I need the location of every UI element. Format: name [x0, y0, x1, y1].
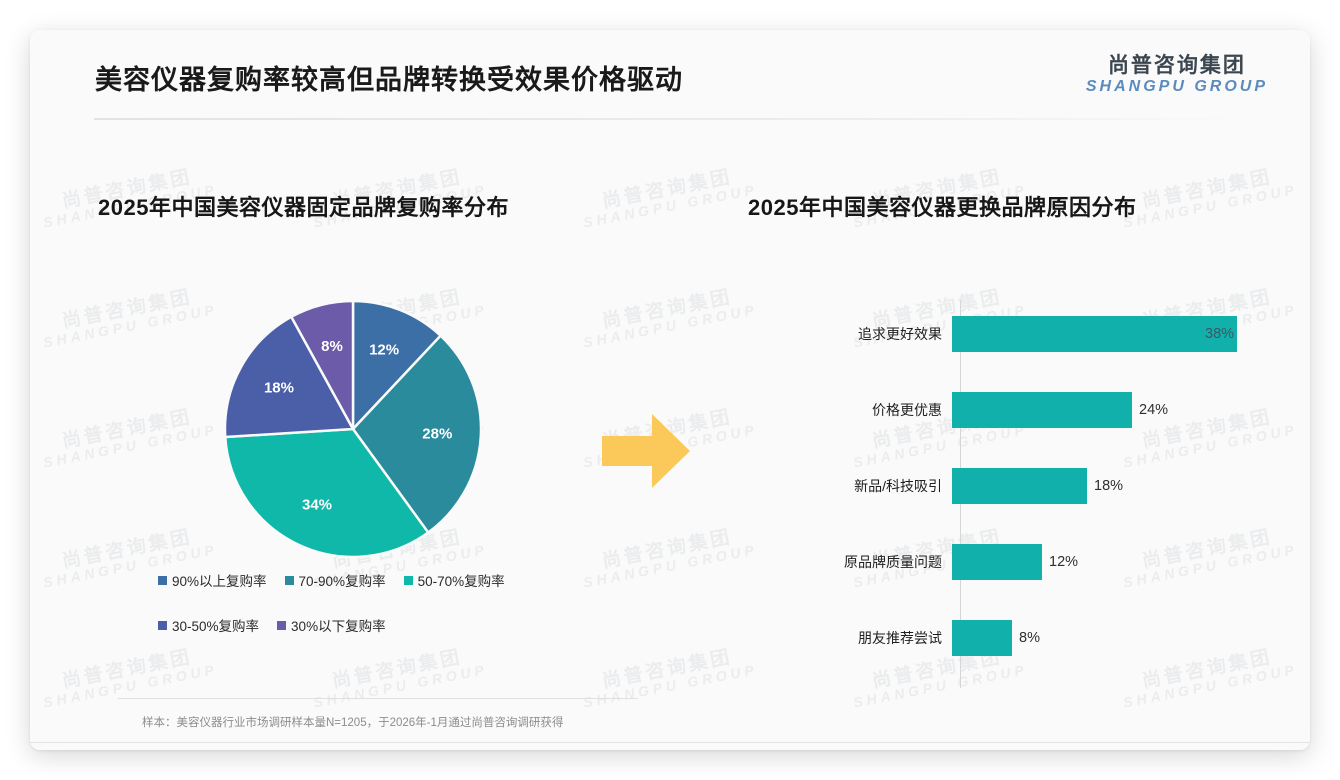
- legend-row: 90%以上复购率70-90%复购率50-70%复购率: [158, 570, 588, 590]
- pie-slice-label: 12%: [369, 341, 399, 358]
- header-divider: [94, 118, 1246, 120]
- bar-value-label: 24%: [1139, 402, 1168, 418]
- legend-item[interactable]: 90%以上复购率: [158, 570, 267, 590]
- legend-label: 50-70%复购率: [418, 570, 505, 590]
- pie-slice-label: 18%: [264, 379, 294, 396]
- watermark: 尚普咨询集团SHANGPU GROUP: [38, 283, 218, 349]
- logo-chinese-text: 尚普咨询集团: [1086, 54, 1268, 78]
- slide-footer: ©2026.1 SHANGPU GROUP www.shangpu-china.…: [30, 743, 1310, 750]
- page-title: 美容仪器复购率较高但品牌转换受效果价格驱动: [95, 58, 683, 97]
- legend-swatch-icon: [285, 576, 294, 585]
- bar-category-label: 追求更好效果: [748, 324, 952, 344]
- bar-row: 追求更好效果38%: [748, 313, 1278, 355]
- watermark: 尚普咨询集团SHANGPU GROUP: [578, 643, 758, 709]
- legend-label: 70-90%复购率: [299, 570, 386, 590]
- bar-chart: 追求更好效果38%价格更优惠24%新品/科技吸引18%原品牌质量问题12%朋友推…: [748, 288, 1278, 688]
- legend-swatch-icon: [158, 576, 167, 585]
- company-logo: 尚普咨询集团 SHANGPU GROUP: [1086, 54, 1268, 95]
- bar-category-label: 价格更优惠: [748, 400, 952, 420]
- bar-row: 新品/科技吸引18%: [748, 465, 1278, 507]
- watermark: 尚普咨询集团SHANGPU GROUP: [1118, 163, 1298, 229]
- pie-slice-label: 34%: [302, 496, 332, 513]
- source-note: 样本：美容仪器行业市场调研样本量N=1205，于2026年-1月通过尚普咨询调研…: [142, 714, 563, 730]
- watermark: 尚普咨询集团SHANGPU GROUP: [578, 523, 758, 589]
- pie-legend: 90%以上复购率70-90%复购率50-70%复购率30-50%复购率30%以下…: [158, 570, 588, 660]
- legend-row: 30-50%复购率30%以下复购率: [158, 615, 588, 635]
- legend-swatch-icon: [277, 621, 286, 630]
- bar-fill[interactable]: [952, 392, 1132, 428]
- bar-fill[interactable]: [952, 316, 1237, 352]
- pie-chart-svg: 12%28%34%18%8%: [222, 298, 484, 560]
- bar-value-label: 8%: [1019, 630, 1040, 646]
- slide-header: 美容仪器复购率较高但品牌转换受效果价格驱动 尚普咨询集团 SHANGPU GRO…: [30, 30, 1310, 120]
- pie-chart: 12%28%34%18%8%: [222, 298, 484, 560]
- legend-swatch-icon: [158, 621, 167, 630]
- legend-label: 30-50%复购率: [172, 615, 259, 635]
- pie-chart-title: 2025年中国美容仪器固定品牌复购率分布: [98, 190, 509, 222]
- bar-category-label: 新品/科技吸引: [748, 476, 952, 496]
- slide-card: 尚普咨询集团SHANGPU GROUP尚普咨询集团SHANGPU GROUP尚普…: [30, 30, 1310, 750]
- watermark: 尚普咨询集团SHANGPU GROUP: [578, 283, 758, 349]
- arrow-right-icon: [598, 406, 694, 501]
- bar-chart-title: 2025年中国美容仪器更换品牌原因分布: [748, 190, 1136, 222]
- bar-track: 8%: [952, 617, 1278, 659]
- pie-slice-label: 8%: [321, 338, 343, 355]
- bar-category-label: 朋友推荐尝试: [748, 628, 952, 648]
- legend-label: 90%以上复购率: [172, 570, 267, 590]
- source-divider: [118, 698, 638, 699]
- legend-item[interactable]: 30-50%复购率: [158, 615, 259, 635]
- legend-item[interactable]: 50-70%复购率: [404, 570, 505, 590]
- bar-row: 原品牌质量问题12%: [748, 541, 1278, 583]
- bar-fill[interactable]: [952, 544, 1042, 580]
- bar-row: 朋友推荐尝试8%: [748, 617, 1278, 659]
- legend-label: 30%以下复购率: [291, 615, 386, 635]
- bar-track: 38%: [952, 313, 1278, 355]
- bar-fill[interactable]: [952, 620, 1012, 656]
- bar-value-label: 38%: [1205, 326, 1234, 342]
- logo-english-text: SHANGPU GROUP: [1086, 78, 1268, 96]
- watermark: 尚普咨询集团SHANGPU GROUP: [578, 163, 758, 229]
- pie-slice-label: 28%: [422, 425, 452, 442]
- bar-fill[interactable]: [952, 468, 1087, 504]
- bar-track: 24%: [952, 389, 1278, 431]
- bar-track: 18%: [952, 465, 1278, 507]
- legend-item[interactable]: 30%以下复购率: [277, 615, 386, 635]
- legend-swatch-icon: [404, 576, 413, 585]
- bar-category-label: 原品牌质量问题: [748, 552, 952, 572]
- bar-value-label: 12%: [1049, 554, 1078, 570]
- bar-track: 12%: [952, 541, 1278, 583]
- bar-row: 价格更优惠24%: [748, 389, 1278, 431]
- bar-value-label: 18%: [1094, 478, 1123, 494]
- watermark: 尚普咨询集团SHANGPU GROUP: [38, 403, 218, 469]
- legend-item[interactable]: 70-90%复购率: [285, 570, 386, 590]
